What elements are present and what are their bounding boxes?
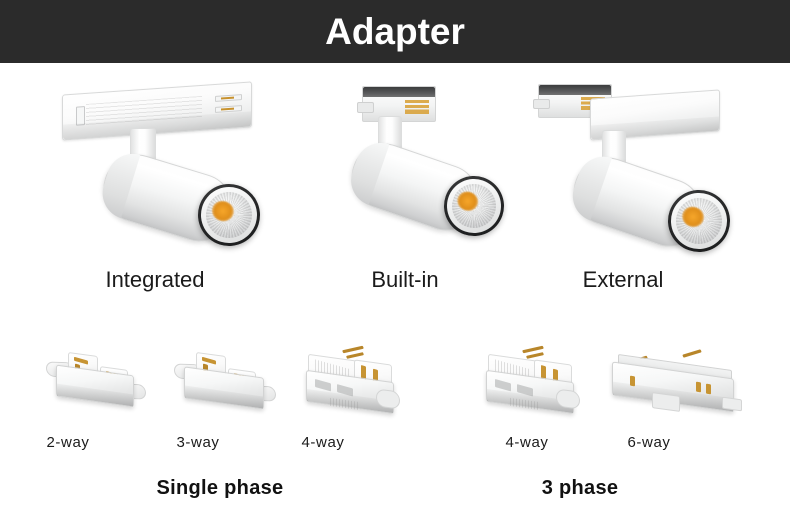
page-header: Adapter bbox=[0, 0, 790, 63]
brass-contact-icon bbox=[682, 349, 701, 357]
housing-shadow bbox=[185, 386, 263, 409]
track-rail-icon bbox=[363, 87, 435, 97]
product-external[interactable] bbox=[528, 80, 758, 260]
brass-contact-icon bbox=[706, 384, 711, 395]
product-integrated[interactable] bbox=[48, 80, 268, 260]
lever-icon bbox=[357, 102, 375, 113]
integrated-driver-box bbox=[62, 81, 252, 140]
connector-three-4-way[interactable] bbox=[478, 344, 598, 422]
adapter-product-sheet: Adapter Integrated bbox=[0, 0, 790, 520]
brass-contact-icon bbox=[215, 95, 241, 103]
page-title: Adapter bbox=[325, 13, 465, 50]
brass-contact-icon bbox=[405, 100, 429, 114]
barrel-tail bbox=[96, 147, 140, 218]
track-rail-icon bbox=[539, 85, 611, 95]
brass-contact-icon bbox=[696, 382, 701, 393]
connector-single-3-way[interactable] bbox=[170, 348, 282, 418]
caption-single-4-way: 4-way bbox=[268, 434, 378, 452]
caption-built-in: Built-in bbox=[315, 267, 495, 293]
product-built-in[interactable] bbox=[330, 80, 530, 260]
caption-integrated: Integrated bbox=[30, 267, 280, 293]
barrel-tail bbox=[344, 136, 389, 205]
caption-three-6-way: 6-way bbox=[594, 434, 704, 452]
release-clip bbox=[652, 392, 680, 412]
caption-three-4-way: 4-way bbox=[472, 434, 582, 452]
brass-contact-icon bbox=[346, 352, 364, 359]
caption-single-3-way: 3-way bbox=[143, 434, 253, 452]
brass-contact-icon bbox=[630, 376, 635, 387]
connector-single-4-way[interactable] bbox=[296, 344, 416, 422]
caption-single-2-way: 2-way bbox=[13, 434, 123, 452]
brass-contact-icon bbox=[526, 352, 544, 359]
connector-single-2-way[interactable] bbox=[42, 348, 154, 418]
group-label-single-phase: Single phase bbox=[95, 476, 345, 500]
barrel-tail bbox=[566, 150, 612, 221]
group-label-three-phase: 3 phase bbox=[480, 476, 680, 500]
housing-shadow bbox=[57, 384, 133, 407]
connector-three-6-way[interactable] bbox=[600, 344, 750, 422]
lever-icon bbox=[533, 99, 551, 109]
caption-external: External bbox=[528, 267, 718, 293]
